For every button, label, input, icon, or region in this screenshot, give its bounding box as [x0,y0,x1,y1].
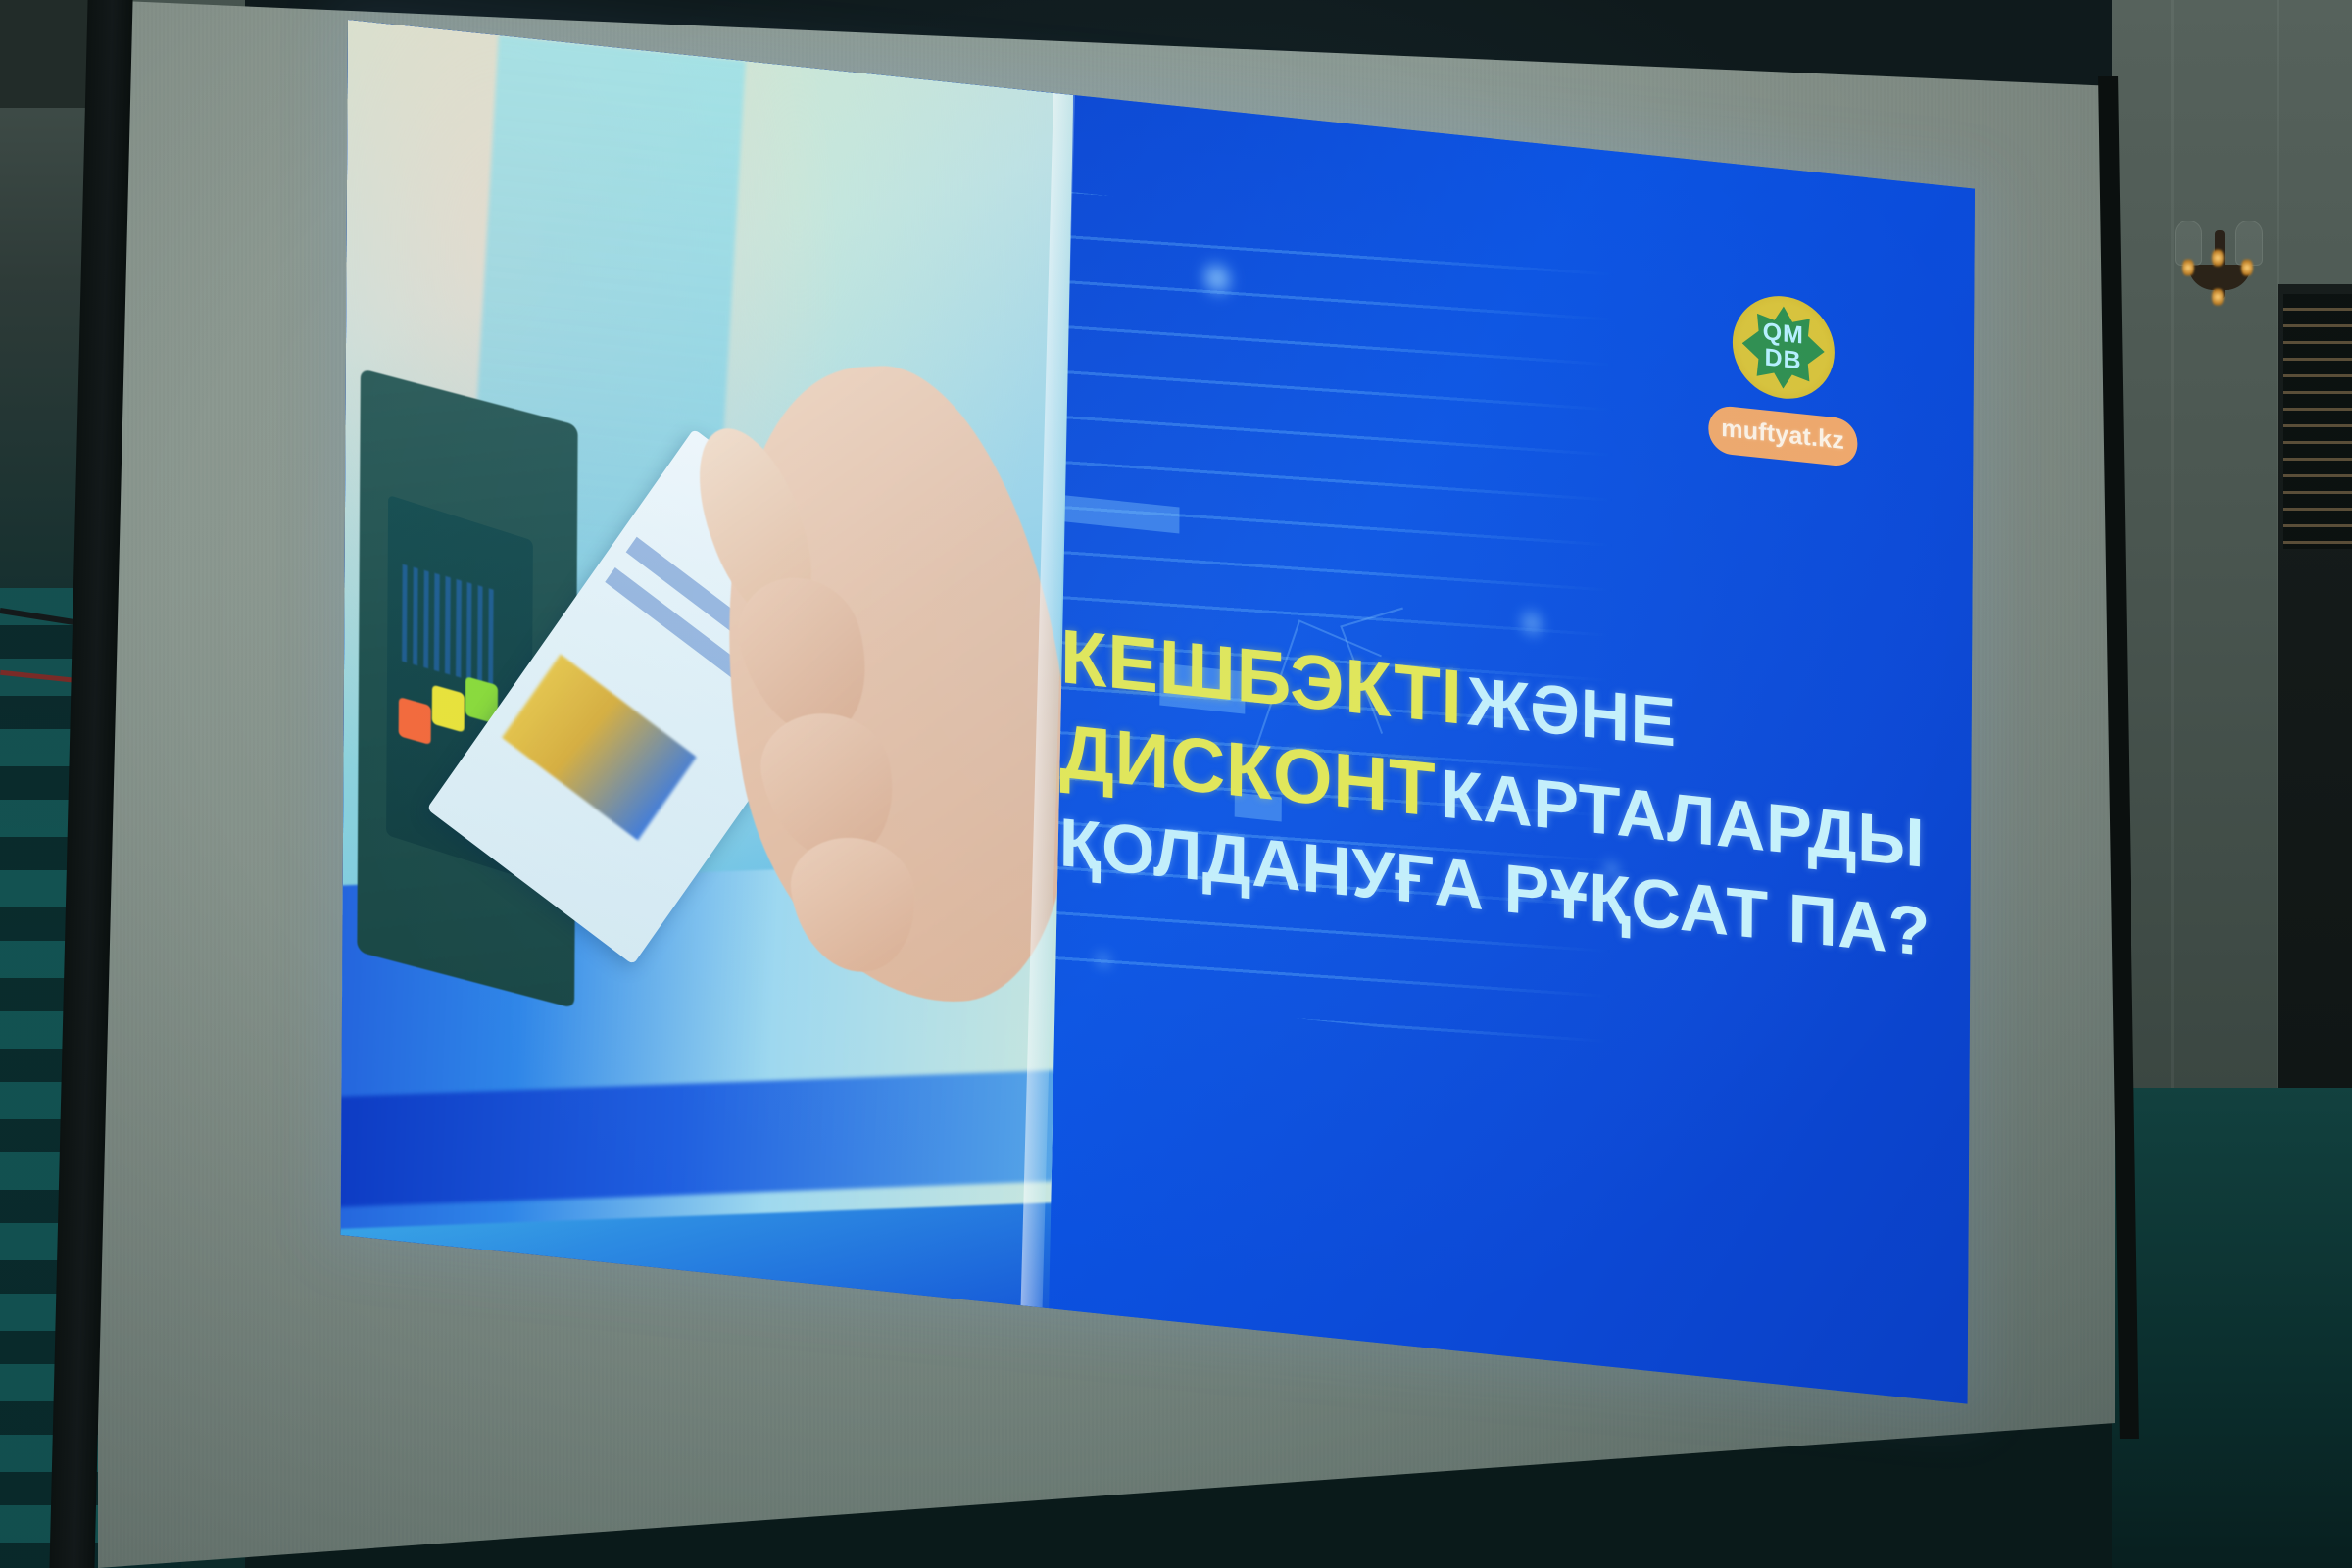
floor [2112,1088,2352,1568]
headline-word-zhane: ЖӘНЕ [1467,662,1677,760]
screenshot-stage: QM DB muftyat.kz КЕШБЭКТІ ЖӘНЕ ДИСКОНТ К… [0,0,2352,1568]
pos-terminal-photo [341,20,1074,1310]
brand-logo-block: QM DB muftyat.kz [1660,284,1905,473]
wall-sconce-light [2161,171,2278,318]
projected-slide: QM DB muftyat.kz КЕШБЭКТІ ЖӘНЕ ДИСКОНТ К… [341,20,1975,1404]
qmdb-emblem-icon: QM DB [1732,291,1835,404]
door-louvers [2283,294,2352,549]
